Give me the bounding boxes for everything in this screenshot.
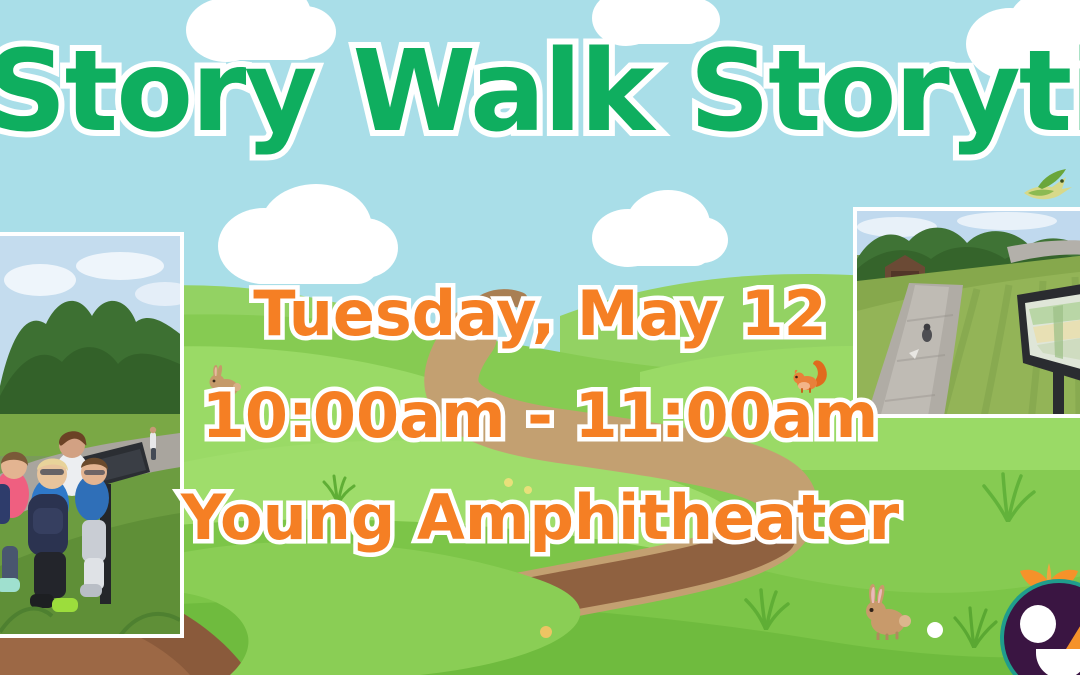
poster-canvas: Story Walk Storytime Tuesday, May 12 10:… [0, 0, 1080, 675]
library-logo [1004, 583, 1080, 675]
logo-eye-left [1020, 605, 1056, 643]
photo-park-path-with-sign [853, 207, 1080, 418]
flower-dot-2 [524, 486, 532, 494]
flower-dot-4 [927, 622, 943, 638]
flower-dot-1 [504, 478, 513, 487]
photo-children-at-storywalk-sign [0, 232, 184, 638]
logo-orange-accent [1066, 623, 1080, 649]
logo-smile [1036, 649, 1080, 675]
page-title: Story Walk Storytime [0, 36, 1080, 148]
flower-dot-3 [540, 626, 552, 638]
